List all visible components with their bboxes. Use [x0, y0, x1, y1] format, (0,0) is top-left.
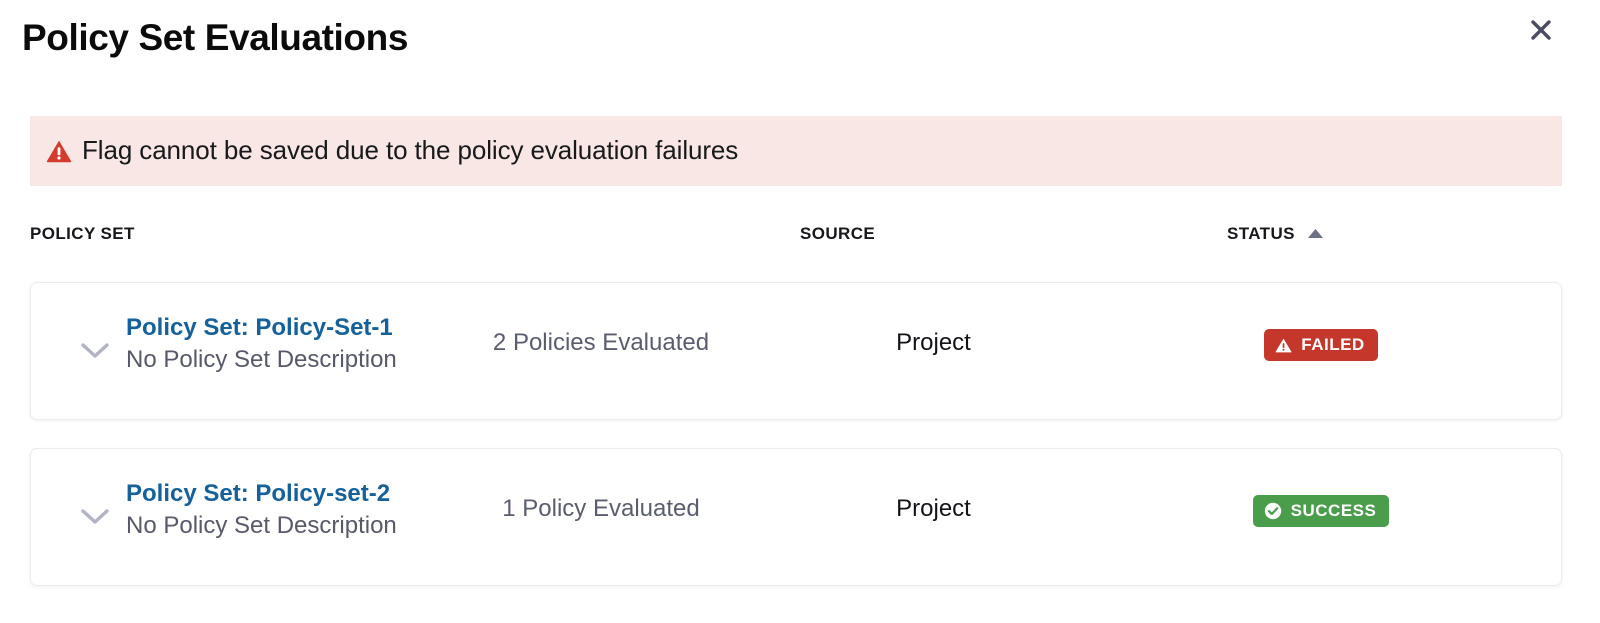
policy-set-link[interactable]: Policy Set: Policy-Set-1 — [126, 312, 456, 344]
column-header-status-label: STATUS — [1227, 224, 1295, 244]
source-value: Project — [831, 495, 1036, 523]
modal-header: Policy Set Evaluations — [0, 0, 1600, 92]
policy-set-info: Policy Set: Policy-set-2 No Policy Set D… — [126, 478, 456, 542]
table-row[interactable]: Policy Set: Policy-Set-1 No Policy Set D… — [30, 282, 1562, 420]
status-badge: SUCCESS — [1253, 495, 1390, 527]
policies-evaluated-count: 1 Policy Evaluated — [461, 495, 741, 523]
column-header-source: SOURCE — [800, 224, 875, 244]
status-badge: FAILED — [1264, 329, 1377, 361]
close-button[interactable] — [1524, 13, 1558, 47]
table-row[interactable]: Policy Set: Policy-set-2 No Policy Set D… — [30, 448, 1562, 586]
status-cell: SUCCESS — [1171, 495, 1471, 527]
warning-triangle-icon — [46, 138, 72, 164]
warning-triangle-icon — [1275, 337, 1292, 354]
chevron-down-icon — [80, 342, 110, 360]
status-badge-label: SUCCESS — [1291, 501, 1377, 521]
alert-message: Flag cannot be saved due to the policy e… — [82, 135, 738, 166]
check-circle-icon — [1264, 502, 1282, 520]
policy-set-link[interactable]: Policy Set: Policy-set-2 — [126, 478, 456, 510]
sort-ascending-icon — [1307, 224, 1324, 244]
policy-set-description: No Policy Set Description — [126, 510, 456, 542]
status-badge-label: FAILED — [1301, 335, 1364, 355]
policy-set-info: Policy Set: Policy-Set-1 No Policy Set D… — [126, 312, 456, 376]
chevron-down-icon — [80, 508, 110, 526]
page-title: Policy Set Evaluations — [22, 17, 408, 60]
close-icon — [1528, 17, 1554, 43]
expand-row-button[interactable] — [73, 329, 117, 373]
policy-set-description: No Policy Set Description — [126, 344, 456, 376]
policy-set-evaluations-modal: Policy Set Evaluations Flag cannot be sa… — [0, 0, 1600, 623]
expand-row-button[interactable] — [73, 495, 117, 539]
column-header-policy-set: POLICY SET — [30, 224, 135, 244]
table-header-row: POLICY SET SOURCE STATUS — [0, 218, 1600, 258]
source-value: Project — [831, 329, 1036, 357]
policies-evaluated-count: 2 Policies Evaluated — [461, 329, 741, 357]
status-cell: FAILED — [1171, 329, 1471, 361]
policy-failure-alert: Flag cannot be saved due to the policy e… — [30, 116, 1562, 186]
column-header-status[interactable]: STATUS — [1227, 224, 1324, 244]
